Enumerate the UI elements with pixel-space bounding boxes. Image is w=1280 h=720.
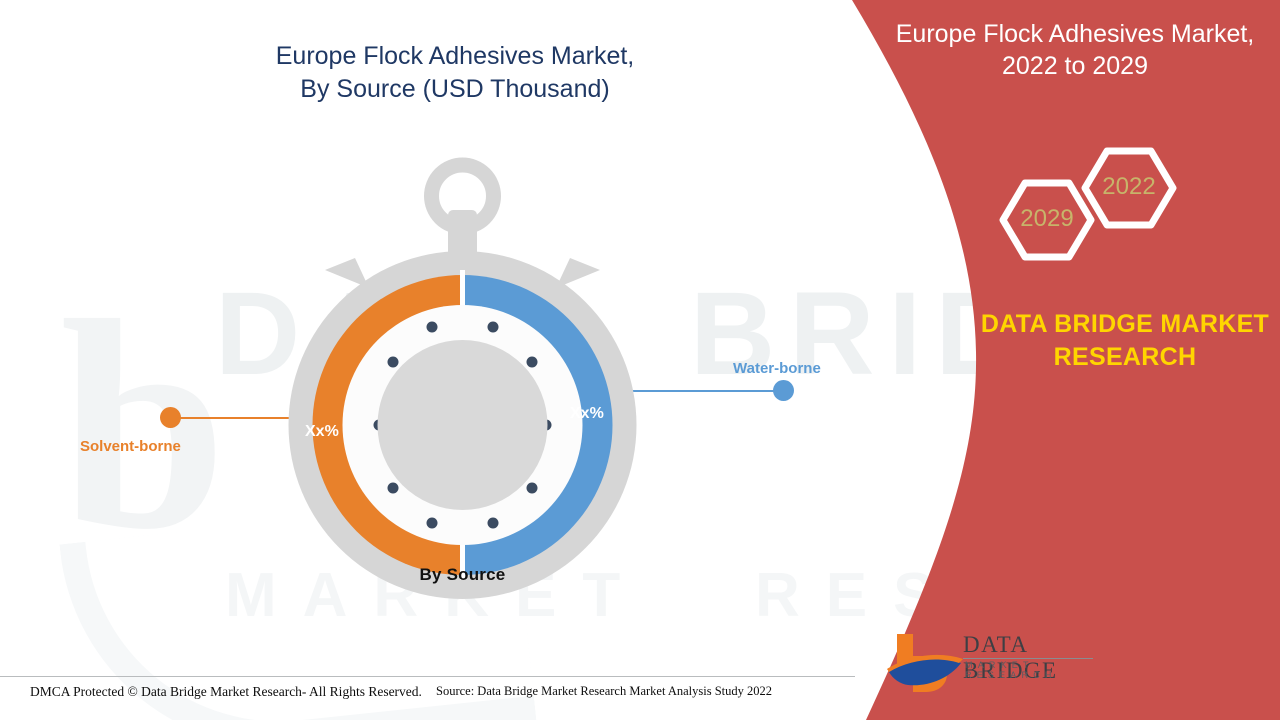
footer-source: Source: Data Bridge Market Research Mark… <box>436 684 772 699</box>
hexagon-far-year-label: 2029 <box>1003 205 1091 233</box>
page-title: Europe Flock Adhesives Market,By Source … <box>215 40 695 106</box>
infographic-canvas: b DATA BRIDGE MARKET RESEARCH Europe Flo… <box>0 0 1280 720</box>
footer-divider <box>0 676 855 677</box>
donut-center-label: By Source <box>285 565 640 585</box>
databridge-logo: DATA BRIDGE MARKET RESEARCH <box>885 628 1100 694</box>
legend-dot-solvent-borne[interactable] <box>160 407 181 428</box>
legend-dot-water-borne[interactable] <box>773 380 794 401</box>
value-label-water-borne: Xx% <box>570 405 604 423</box>
logo-tagline-text: MARKET RESEARCH <box>965 660 1100 680</box>
hexagon-near-year-label: 2022 <box>1085 173 1173 201</box>
donut-chart: By Source <box>285 150 640 600</box>
year-hexagons: 2029 2022 <box>985 135 1185 285</box>
footer-copyright: DMCA Protected © Data Bridge Market Rese… <box>30 684 422 700</box>
legend-label-water-borne[interactable]: Water-borne <box>733 360 821 377</box>
value-label-solvent-borne: Xx% <box>305 423 339 441</box>
donut-hub <box>378 340 548 510</box>
right-panel-title: Europe Flock Adhesives Market,2022 to 20… <box>880 18 1270 82</box>
donut-chart-graphic <box>285 150 640 600</box>
logo-divider <box>963 658 1093 659</box>
legend-label-solvent-borne[interactable]: Solvent-borne <box>80 438 181 455</box>
brand-name-heading: DATA BRIDGE MARKETRESEARCH <box>960 308 1280 373</box>
